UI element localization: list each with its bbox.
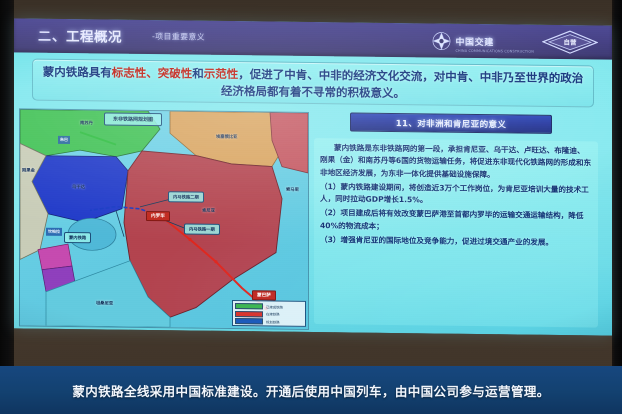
map-label-tanzania: 坦桑尼亚	[96, 300, 113, 306]
map-label-ethiopia: 埃塞俄比亚	[216, 134, 237, 140]
title-number: 二、	[38, 26, 66, 45]
map-label-south-sudan: 南苏丹	[80, 120, 93, 126]
projected-slide: 二、 工程概况 -项目重要意义 中国交建 CHINA COMMUNICATION…	[14, 18, 612, 335]
map-tag-nairobi: 内罗毕	[146, 211, 170, 221]
headline-part1: 蒙内铁路具有	[43, 65, 112, 80]
section-header-bar: 11、对非洲和肯尼亚的意义	[350, 112, 552, 133]
map-title-box: 东非铁路网规划图	[104, 112, 162, 126]
body-paragraph-3: （3）增强肯尼亚的国际地位及竞争能力，促进过境交通产业的发展。	[320, 234, 592, 250]
legend-label-planned: 规划铁路	[266, 319, 280, 324]
svg-text:自营: 自营	[564, 38, 577, 47]
legend-row: 在建铁路	[235, 311, 303, 318]
body-paragraph-1: （1）蒙内铁路建设期间，将创造近3万个工作岗位，为肯尼亚培训大量的技术工人，同时…	[320, 181, 592, 209]
body-paragraph-2: （2）项目建成后将有效改变蒙巴萨港至首都内罗毕的运输交通运输结构，降低40%的物…	[320, 208, 592, 236]
body-paragraph-0: 蒙内铁路是东非铁路网的第一段，承担肯尼亚、乌干达、卢旺达、布隆迪、刚果（金）和南…	[320, 142, 592, 182]
legend-label-building: 在建铁路	[266, 311, 280, 316]
brand-logo: 中国交建 CHINA COMMUNICATIONS CONSTRUCTION	[432, 29, 534, 52]
headline-highlight-1: 标志性、突破性	[112, 66, 193, 81]
left-wall-shadow	[0, 0, 14, 366]
map-city-kampala: 坎帕拉	[46, 228, 62, 236]
legend-row: 规划铁路	[235, 318, 303, 325]
map-callout-nairobi-malaba-phase2: 内马铁路二期	[168, 191, 204, 202]
title-subtitle: -项目重要意义	[152, 31, 205, 43]
legend-swatch-built	[235, 303, 263, 309]
map-callout-nairobi-malaba-phase1: 内马铁路一期	[184, 223, 220, 234]
map-label-uganda: 乌干达	[72, 184, 85, 190]
legend-label-built: 已建成铁路	[266, 304, 283, 309]
map-label-somalia: 索马里	[286, 187, 299, 193]
legend-swatch-building	[235, 311, 263, 317]
brand-subname: CHINA COMMUNICATIONS CONSTRUCTION	[455, 48, 534, 53]
map-label-kenya: 肯尼亚	[202, 208, 215, 214]
right-wall-shadow	[612, 0, 622, 366]
headline-highlight-2: 示范性	[204, 67, 239, 81]
slide-title-bar: 二、 工程概况 -项目重要意义 中国交建 CHINA COMMUNICATION…	[14, 18, 612, 59]
east-africa-railway-map: 东非铁路网规划图 南苏丹 乌干达 埃塞俄比亚 索马里 坦桑尼亚 刚果金 肯尼亚 …	[19, 108, 309, 330]
legend-swatch-planned	[235, 318, 263, 324]
map-city-juba: 朱巴	[58, 136, 70, 144]
map-tag-mombasa: 蒙巴萨	[252, 290, 276, 300]
caption-bar: 蒙内铁路全线采用中国标准建设。开通后使用中国列车，由中国公司参与运营管理。	[0, 366, 622, 414]
brand-name: 中国交建	[455, 37, 493, 47]
map-legend: 已建成铁路 在建铁路 规划铁路	[232, 300, 306, 327]
headline-part3: ，促进了中肯、中非的经济文化交流，对中肯、中非乃至世界的政治经济格局都有着不寻常…	[221, 67, 583, 100]
map-label-drc: 刚果金	[22, 167, 35, 173]
compass-star-icon	[432, 31, 451, 50]
headline-text-box: 蒙内铁路具有标志性、突破性和示范性，促进了中肯、中非的经济文化交流，对中肯、中非…	[32, 59, 594, 108]
caption-text: 蒙内铁路全线采用中国标准建设。开通后使用中国列车，由中国公司参与运营管理。	[72, 381, 549, 400]
page-title: 工程概况	[66, 25, 122, 46]
map-callout-mombasa-nairobi-railway: 蒙内铁路	[64, 232, 91, 243]
section-body-text: 蒙内铁路是东非铁路网的第一段，承担肯尼亚、乌干达、卢旺达、布隆迪、刚果（金）和南…	[314, 138, 598, 327]
right-content-panel: 11、对非洲和肯尼亚的意义 蒙内铁路是东非铁路网的第一段，承担肯尼亚、乌干达、卢…	[314, 112, 598, 331]
legend-row: 已建成铁路	[235, 303, 303, 310]
company-seal-logo: 自营	[542, 30, 598, 55]
headline-part2: 和	[192, 67, 204, 81]
room-background: 二、 工程概况 -项目重要意义 中国交建 CHINA COMMUNICATION…	[0, 0, 622, 414]
